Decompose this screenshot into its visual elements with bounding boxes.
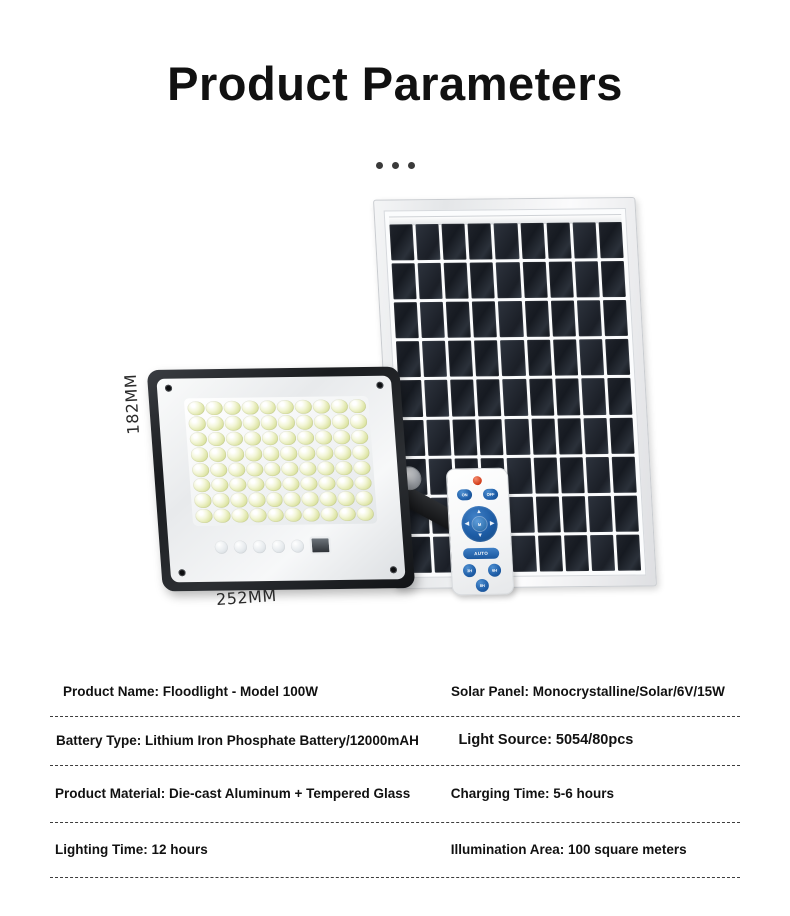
led-diode <box>195 509 213 524</box>
dot-divider <box>0 162 790 169</box>
led-diode <box>223 401 241 416</box>
solar-cell <box>503 379 528 415</box>
solar-cell <box>498 301 523 337</box>
solar-cell <box>442 224 467 260</box>
led-diode <box>213 508 231 523</box>
solar-cell <box>614 495 639 531</box>
power-indicator-icon <box>473 476 482 485</box>
led-diode <box>249 508 267 523</box>
solar-cell <box>389 224 414 260</box>
floodlight-indicator-strip <box>214 536 332 556</box>
solar-cell <box>448 341 473 377</box>
led-diode <box>355 491 373 506</box>
led-diode <box>278 415 296 430</box>
product-hero-image: ON OFF ▲ ▼ ◀ ▶ M AUTO 3H 6H 8H 252MM 182… <box>0 190 790 650</box>
led-diode <box>299 461 317 476</box>
led-diode <box>260 416 278 431</box>
led-diode <box>337 491 355 506</box>
floodlight-lens-face <box>156 376 405 583</box>
led-diode <box>280 446 298 461</box>
led-diode <box>338 507 356 522</box>
remote-center-button[interactable]: M <box>472 517 487 531</box>
solar-cell <box>551 301 576 337</box>
solar-cell <box>392 263 417 299</box>
screw-icon <box>178 569 186 576</box>
solar-cell <box>500 340 525 376</box>
led-diode <box>279 431 297 446</box>
led-diode <box>351 430 369 445</box>
solar-cell <box>416 224 441 260</box>
solar-cell-grid <box>389 222 641 573</box>
remote-dpad[interactable]: ▲ ▼ ◀ ▶ M <box>461 506 499 543</box>
led-diode <box>224 416 242 431</box>
solar-cell <box>575 261 600 297</box>
solar-panel <box>373 197 657 589</box>
led-diode <box>205 401 223 416</box>
solar-cell <box>538 535 563 571</box>
led-diode <box>267 508 285 523</box>
led-diode <box>298 446 316 461</box>
led-diode <box>301 492 319 507</box>
dimension-height-label: 182MM <box>121 373 143 435</box>
led-diode <box>313 399 331 414</box>
solar-cell <box>581 379 606 415</box>
chevron-left-icon: ◀ <box>464 521 469 527</box>
table-row: Lighting Time: 12 hours Illumination Are… <box>0 823 790 877</box>
solar-cell <box>444 263 469 299</box>
divider-dot-2 <box>392 162 399 169</box>
led-diode <box>188 417 206 432</box>
led-diode <box>277 400 295 415</box>
remote-timer-6h-button[interactable]: 6H <box>488 564 502 577</box>
led-diode <box>300 476 318 491</box>
solar-cell <box>505 418 530 454</box>
spec-charging-time: Charging Time: 5-6 hours <box>437 766 740 822</box>
light-sensor-window <box>309 536 331 554</box>
solar-cell <box>509 496 534 532</box>
led-diode <box>336 476 354 491</box>
led-diode <box>208 447 226 462</box>
chevron-up-icon: ▲ <box>476 509 482 515</box>
led-diode <box>262 446 280 461</box>
screw-icon <box>390 566 398 573</box>
led-diode <box>207 432 225 447</box>
solar-cell <box>426 419 451 455</box>
led-diode <box>317 461 335 476</box>
led-diode <box>283 492 301 507</box>
led-diode <box>225 431 243 446</box>
led-diode <box>350 414 368 429</box>
spec-battery-type: Battery Type: Lithium Iron Phosphate Bat… <box>50 717 436 765</box>
remote-control: ON OFF ▲ ▼ ◀ ▶ M AUTO 3H 6H 8H <box>446 468 515 596</box>
solar-cell <box>527 340 552 376</box>
solar-cell <box>477 380 502 416</box>
dimension-width-label: 252MM <box>215 586 277 609</box>
solar-cell <box>424 380 449 416</box>
led-diode <box>246 477 264 492</box>
led-diode <box>243 431 261 446</box>
solar-cell <box>522 262 547 298</box>
solar-cell <box>450 380 475 416</box>
chevron-down-icon: ▼ <box>477 533 483 539</box>
led-diode <box>209 462 227 477</box>
led-diode <box>241 400 259 415</box>
led-diode <box>297 430 315 445</box>
solar-cell <box>474 341 499 377</box>
divider-dot-1 <box>376 162 383 169</box>
solar-cell <box>479 419 504 455</box>
solar-cell <box>422 341 447 377</box>
solar-cell <box>605 339 630 375</box>
solar-cell <box>511 536 536 572</box>
solar-cell <box>553 340 578 376</box>
chevron-right-icon: ▶ <box>490 521 495 527</box>
solar-panel-glass <box>384 208 647 578</box>
screw-icon <box>165 385 173 392</box>
solar-cell <box>535 496 560 532</box>
spec-light-source: Light Source: 5054/80pcs <box>436 717 740 765</box>
led-diode <box>333 430 351 445</box>
led-diode <box>245 462 263 477</box>
solar-cell <box>546 223 571 259</box>
row-divider <box>0 877 790 878</box>
solar-cell <box>616 534 641 570</box>
floodlight-fixture <box>147 367 416 592</box>
solar-cell <box>470 262 495 298</box>
led-diode <box>230 493 248 508</box>
solar-cell <box>588 496 613 532</box>
solar-cell <box>420 302 445 338</box>
remote-on-button[interactable]: ON <box>457 489 473 500</box>
led-diode <box>352 445 370 460</box>
solar-cell <box>548 262 573 298</box>
led-diode <box>296 415 314 430</box>
solar-cell <box>607 378 632 414</box>
led-diode <box>194 493 212 508</box>
led-diode <box>231 508 249 523</box>
led-diode <box>229 477 247 492</box>
led-diode <box>244 446 262 461</box>
led-diode <box>259 400 277 415</box>
solar-cell <box>557 418 582 454</box>
led-diode <box>353 460 371 475</box>
led-diode <box>264 477 282 492</box>
led-diode <box>318 476 336 491</box>
led-diode <box>281 461 299 476</box>
floodlight-housing <box>147 367 416 592</box>
led-diode <box>211 478 229 493</box>
led-diode <box>332 415 350 430</box>
led-diode <box>261 431 279 446</box>
led-diode <box>348 399 366 414</box>
solar-cell <box>494 223 519 259</box>
led-diode <box>192 463 210 478</box>
spec-illumination-area: Illumination Area: 100 square meters <box>437 823 740 877</box>
divider-dot-3 <box>408 162 415 169</box>
solar-cell <box>529 379 554 415</box>
led-array <box>184 396 378 526</box>
led-diode <box>189 432 207 447</box>
solar-cell <box>590 535 615 571</box>
solar-cell <box>507 457 532 493</box>
solar-cell <box>396 341 421 377</box>
led-diode <box>335 461 353 476</box>
led-diode <box>248 492 266 507</box>
led-diode <box>319 491 337 506</box>
solar-cell <box>531 418 556 454</box>
solar-cell <box>472 302 497 338</box>
remote-timer-3h-button[interactable]: 3H <box>463 564 477 577</box>
led-diode <box>303 507 321 522</box>
led-diode <box>226 447 244 462</box>
solar-cell <box>533 457 558 493</box>
solar-cell <box>496 262 521 298</box>
spec-lighting-time: Lighting Time: 12 hours <box>50 823 437 877</box>
table-row: Battery Type: Lithium Iron Phosphate Bat… <box>0 717 790 765</box>
solar-cell <box>572 222 597 258</box>
specifications-table: Product Name: Floodlight - Model 100W So… <box>0 668 790 878</box>
indicator-led-2 <box>233 540 247 553</box>
indicator-led-5 <box>290 539 304 552</box>
solar-cell <box>524 301 549 337</box>
led-diode <box>190 447 208 462</box>
solar-cell <box>585 457 610 493</box>
led-diode <box>285 507 303 522</box>
solar-cell <box>394 302 419 338</box>
led-diode <box>227 462 245 477</box>
solar-panel-frame <box>373 197 657 589</box>
spec-product-name: Product Name: Floodlight - Model 100W <box>50 668 437 716</box>
led-diode <box>206 416 224 431</box>
led-diode <box>334 445 352 460</box>
solar-cell <box>453 419 478 455</box>
led-diode <box>314 415 332 430</box>
led-diode <box>320 507 338 522</box>
spec-product-material: Product Material: Die-cast Aluminum + Te… <box>50 766 437 822</box>
table-row: Product Name: Floodlight - Model 100W So… <box>0 668 790 716</box>
spec-solar-panel: Solar Panel: Monocrystalline/Solar/6V/15… <box>437 668 740 716</box>
led-diode <box>330 399 348 414</box>
solar-cell <box>555 379 580 415</box>
led-diode <box>266 492 284 507</box>
led-diode <box>263 462 281 477</box>
solar-cell <box>609 417 634 453</box>
remote-timer-8h-button[interactable]: 8H <box>475 579 489 592</box>
solar-cell <box>579 339 604 375</box>
solar-cell <box>564 535 589 571</box>
led-diode <box>212 493 230 508</box>
led-diode <box>315 430 333 445</box>
solar-cell <box>577 300 602 336</box>
remote-off-button[interactable]: OFF <box>483 489 499 500</box>
led-diode <box>356 506 374 521</box>
table-row: Product Material: Die-cast Aluminum + Te… <box>0 766 790 822</box>
solar-cell <box>561 496 586 532</box>
solar-cell <box>468 223 493 259</box>
led-diode <box>295 400 313 415</box>
indicator-led-1 <box>214 540 228 553</box>
solar-cell <box>446 302 471 338</box>
indicator-led-3 <box>252 540 266 553</box>
screw-icon <box>376 382 384 389</box>
led-diode <box>193 478 211 493</box>
page-title: Product Parameters <box>0 58 790 110</box>
solar-cell <box>520 223 545 259</box>
led-diode <box>187 401 205 416</box>
solar-cell <box>583 418 608 454</box>
solar-cell <box>612 456 637 492</box>
led-diode <box>242 416 260 431</box>
solar-cell <box>603 300 628 336</box>
solar-cell <box>601 261 626 297</box>
led-diode <box>282 477 300 492</box>
led-diode <box>316 445 334 460</box>
indicator-led-4 <box>271 539 285 552</box>
solar-cell <box>418 263 443 299</box>
led-diode <box>354 476 372 491</box>
solar-cell <box>598 222 623 258</box>
remote-auto-button[interactable]: AUTO <box>463 548 500 560</box>
solar-cell <box>559 457 584 493</box>
